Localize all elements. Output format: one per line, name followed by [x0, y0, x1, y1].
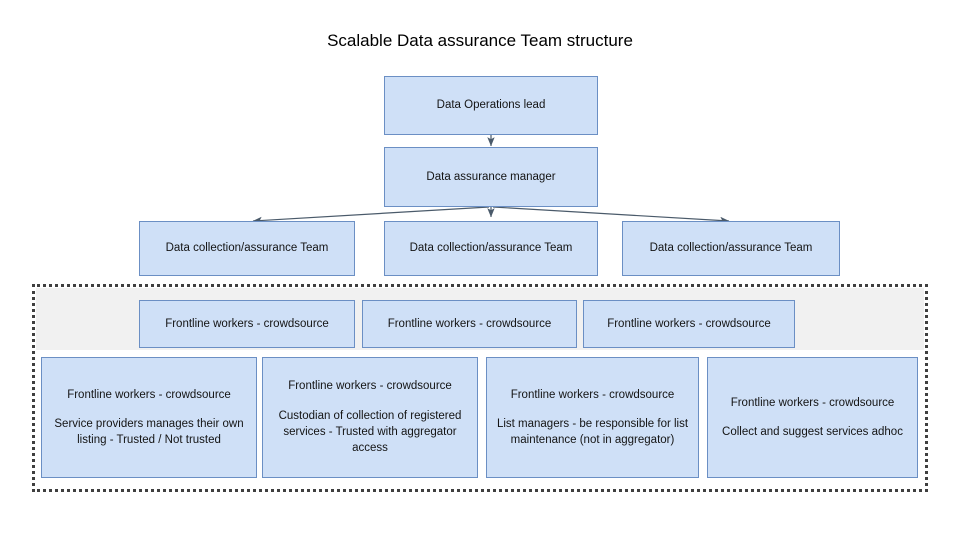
node-frontline-detail-4[interactable]: Frontline workers - crowdsource Collect … [707, 357, 918, 478]
node-label: Frontline workers - crowdsource [511, 387, 675, 403]
node-frontline-detail-2[interactable]: Frontline workers - crowdsource Custodia… [262, 357, 478, 478]
node-label: Data assurance manager [426, 169, 555, 185]
node-label: Data collection/assurance Team [166, 240, 329, 256]
node-label: Data collection/assurance Team [650, 240, 813, 256]
node-team-1[interactable]: Data collection/assurance Team [139, 221, 355, 276]
node-detail: Custodian of collection of registered se… [271, 408, 469, 457]
node-team-2[interactable]: Data collection/assurance Team [384, 221, 598, 276]
node-label: Frontline workers - crowdsource [607, 316, 771, 332]
node-frontline-3[interactable]: Frontline workers - crowdsource [583, 300, 795, 348]
node-label: Frontline workers - crowdsource [165, 316, 329, 332]
node-label: Frontline workers - crowdsource [288, 378, 452, 394]
diagram-canvas: Scalable Data assurance Team structure D… [0, 0, 960, 540]
node-frontline-detail-3[interactable]: Frontline workers - crowdsource List man… [486, 357, 699, 478]
node-frontline-detail-1[interactable]: Frontline workers - crowdsource Service … [41, 357, 257, 478]
node-label: Data collection/assurance Team [410, 240, 573, 256]
node-data-assurance-manager[interactable]: Data assurance manager [384, 147, 598, 207]
node-frontline-2[interactable]: Frontline workers - crowdsource [362, 300, 577, 348]
node-detail: Collect and suggest services adhoc [722, 424, 903, 440]
page-title: Scalable Data assurance Team structure [0, 31, 960, 51]
node-label: Data Operations lead [437, 97, 546, 113]
node-team-3[interactable]: Data collection/assurance Team [622, 221, 840, 276]
node-frontline-1[interactable]: Frontline workers - crowdsource [139, 300, 355, 348]
node-label: Frontline workers - crowdsource [388, 316, 552, 332]
node-label: Frontline workers - crowdsource [731, 395, 895, 411]
node-detail: Service providers manages their own list… [50, 416, 248, 449]
node-label: Frontline workers - crowdsource [67, 387, 231, 403]
node-data-operations-lead[interactable]: Data Operations lead [384, 76, 598, 135]
node-detail: List managers - be responsible for list … [495, 416, 690, 449]
